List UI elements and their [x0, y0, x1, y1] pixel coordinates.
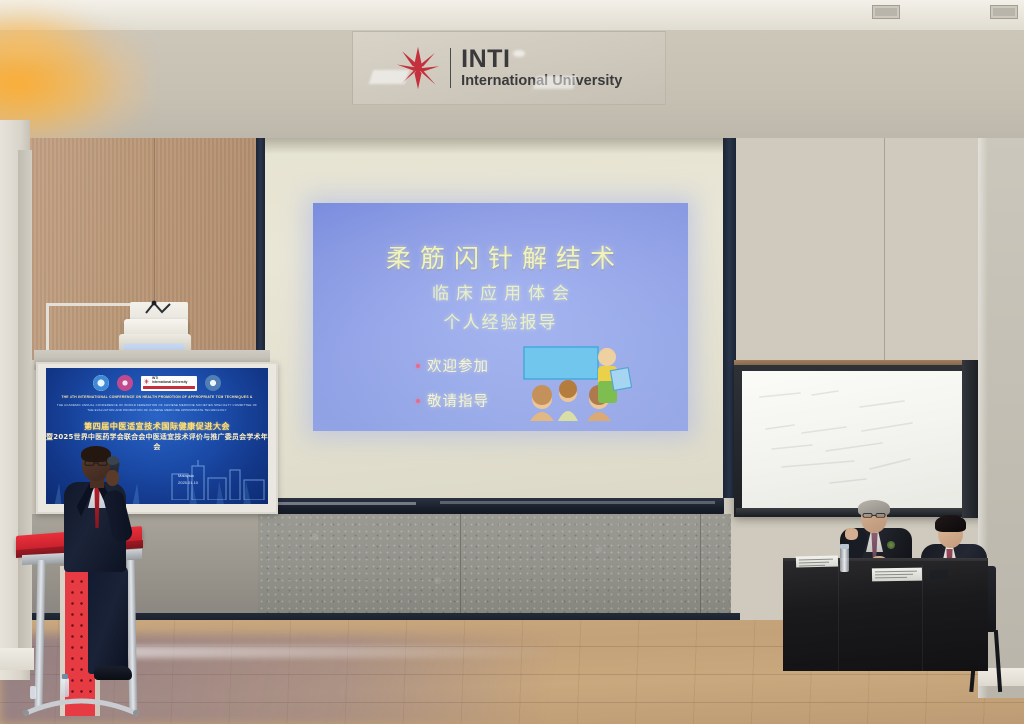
whiteboard-surface	[742, 371, 965, 509]
inti-badge-subtitle: International University	[152, 381, 187, 385]
floor-reflection	[96, 646, 566, 658]
slide-bullet-item: 敬请指导	[416, 390, 489, 411]
boutonniere-icon	[887, 541, 895, 549]
eyeglasses-icon	[862, 513, 886, 518]
conference-logo-row: INTI International University	[46, 375, 268, 391]
table-drape-fold	[922, 565, 923, 671]
inti-logo-icon: INTI International University	[141, 376, 197, 391]
ceiling	[0, 0, 1024, 34]
mobile-phone	[930, 569, 949, 579]
conference-place-block: Malaysia 2025.01.10	[178, 472, 198, 486]
conference-hall-photo: INTI International University 柔筋闪针解结术 临床…	[0, 0, 1024, 724]
projected-slide: 柔筋闪针解结术 临床应用体会 个人经验报导 欢迎参加 敬请指导	[313, 203, 688, 431]
table-drape-fold	[838, 565, 839, 671]
conference-place: Malaysia	[178, 472, 198, 479]
projector-arm-icon	[144, 300, 172, 316]
slide-subtitle-1: 临床应用体会	[313, 279, 688, 304]
door-jamb-inner	[18, 150, 32, 670]
screen-housing-highlight	[440, 501, 715, 504]
baseboard-left	[0, 648, 34, 670]
microphone-head-icon	[107, 456, 119, 465]
speaker-shoe	[94, 666, 132, 680]
tcm-society-emblem-icon	[117, 375, 133, 391]
bottle-cap-icon	[840, 544, 849, 549]
water-bottle-floor	[61, 678, 69, 697]
slide-bullet-item: 欢迎参加	[416, 355, 489, 376]
bullet-dot-icon	[416, 364, 420, 368]
whiteboard-right-post	[962, 360, 978, 518]
water-bottle	[840, 548, 849, 572]
screen-housing-highlight	[268, 502, 416, 505]
bullet-dot-icon	[416, 399, 420, 403]
slide-bullet-label: 欢迎参加	[427, 355, 489, 376]
document-sheet	[872, 568, 922, 582]
whiteboard-erased-marks	[742, 371, 965, 509]
document-sheet	[796, 555, 838, 567]
sign-reflection	[533, 76, 577, 89]
inti-badge-bar	[143, 386, 195, 389]
panelist-left-fist	[845, 528, 858, 540]
speaker-hand	[106, 470, 119, 486]
ceiling-vent-icon	[872, 5, 900, 19]
sign-divider	[450, 48, 452, 88]
slide-subtitle-2: 个人经验报导	[313, 308, 688, 333]
ceiling-vent-icon	[990, 5, 1018, 19]
conference-heading-cn-1: 第四届中医适宜技术国际健康促进大会	[46, 420, 268, 432]
slide-bullet-list: 欢迎参加 敬请指导	[416, 355, 489, 425]
speaker-legs	[88, 566, 128, 674]
sign-reflection	[369, 70, 410, 84]
conference-date: 2025.01.10	[178, 479, 198, 486]
podium-base	[18, 690, 144, 716]
whiteboard-marker-tray	[736, 508, 968, 515]
sign-reflection	[513, 50, 525, 57]
slide-bullet-label: 敬请指导	[427, 390, 489, 411]
water-bottle-floor	[30, 686, 36, 699]
inti-wall-sign: INTI International University	[352, 31, 666, 105]
panelist-right-hair	[935, 515, 966, 532]
acoustic-panel-center	[258, 514, 731, 618]
conference-heading-en-1: THE 4TH INTERNATIONAL CONFERENCE ON HEAL…	[54, 395, 260, 400]
warm-light-glow-secondary	[0, 0, 100, 60]
teacher-and-students-clipart	[520, 341, 632, 421]
federation-emblem-icon	[205, 375, 221, 391]
wood-panel-right	[736, 138, 1006, 368]
slide-title: 柔筋闪针解结术	[313, 239, 688, 275]
conference-heading-cn-2: 暨2025世界中医药学会联合会中医适宜技术评价与推广委员会学术年会	[46, 432, 268, 452]
conference-emblem-icon	[93, 375, 109, 391]
inti-brand-name: INTI	[461, 47, 622, 72]
bottle-cap-icon	[62, 674, 68, 679]
eyeglasses-icon	[84, 460, 108, 466]
conference-heading-en-2: THE ACADEMIC ANNUAL CONFERENCE OF WORLD …	[56, 403, 258, 412]
